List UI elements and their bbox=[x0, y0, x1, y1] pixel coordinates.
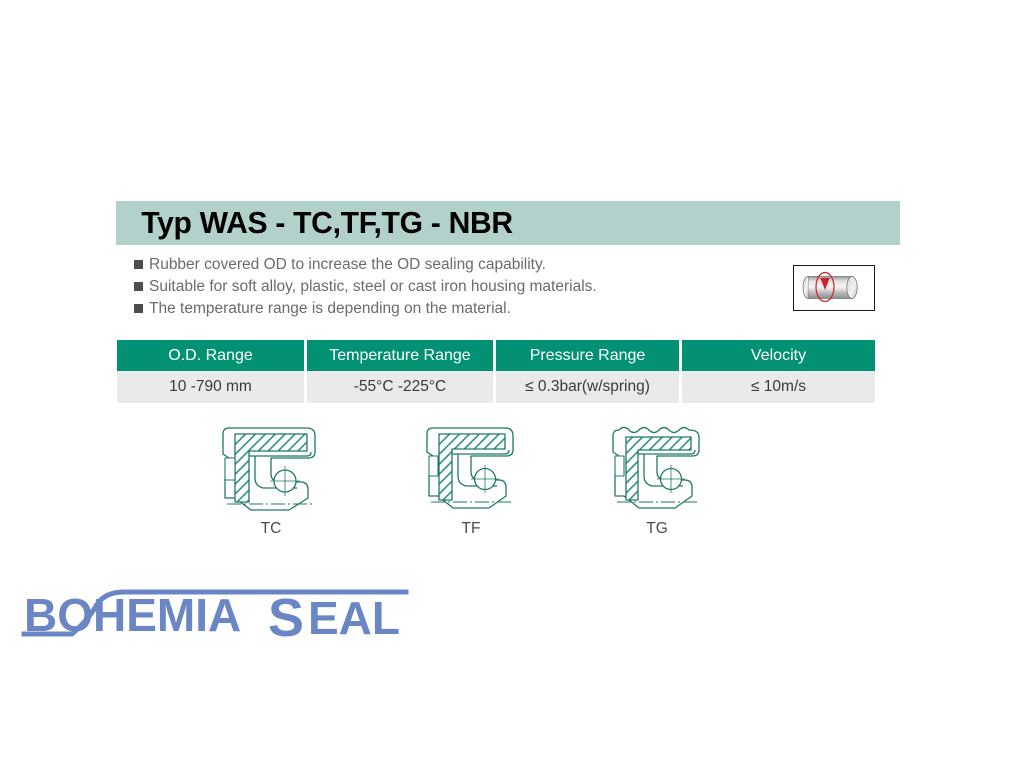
seal-label-tg: TG bbox=[582, 520, 732, 538]
brand-logo: BOHEMIA S EAL bbox=[16, 584, 416, 646]
seal-diagram-gallery: TC TF bbox=[0, 418, 1024, 553]
feature-item: Suitable for soft alloy, plastic, steel … bbox=[134, 277, 754, 296]
square-bullet-icon bbox=[134, 260, 143, 269]
seal-item-tf: TF bbox=[396, 418, 546, 538]
table-cell-pressure-range: ≤ 0.3bar(w/spring) bbox=[496, 371, 682, 403]
feature-item-label: Rubber covered OD to increase the OD sea… bbox=[149, 255, 546, 274]
table-row: 10 -790 mm -55°C -225°C ≤ 0.3bar(w/sprin… bbox=[117, 371, 875, 403]
square-bullet-icon bbox=[134, 282, 143, 291]
feature-item: Rubber covered OD to increase the OD sea… bbox=[134, 255, 754, 274]
square-bullet-icon bbox=[134, 304, 143, 313]
seal-drawing-tc bbox=[196, 418, 346, 518]
table-header-cell-od-range: O.D. Range bbox=[117, 340, 307, 371]
seal-item-tg: TG bbox=[582, 418, 732, 538]
seal-label-tc: TC bbox=[196, 520, 346, 538]
page-title: Typ WAS - TC,TF,TG - NBR bbox=[116, 205, 513, 241]
seal-drawing-tf bbox=[396, 418, 546, 518]
table-cell-velocity: ≤ 10m/s bbox=[682, 371, 875, 403]
logo-word-eal: EAL bbox=[308, 592, 400, 644]
feature-item-label: Suitable for soft alloy, plastic, steel … bbox=[149, 277, 597, 296]
rotating-shaft-icon bbox=[794, 266, 873, 309]
feature-item-label: The temperature range is depending on th… bbox=[149, 299, 511, 318]
seal-item-tc: TC bbox=[196, 418, 346, 538]
title-banner: Typ WAS - TC,TF,TG - NBR bbox=[116, 201, 900, 245]
rotating-shaft-icon-box bbox=[793, 265, 875, 311]
page-root: Typ WAS - TC,TF,TG - NBR Rubber covered … bbox=[0, 0, 1024, 768]
seal-diagram-tf bbox=[415, 418, 527, 518]
logo-word-s: S bbox=[268, 588, 304, 646]
seal-diagram-tg bbox=[601, 418, 713, 518]
bohemia-seal-logo: BOHEMIA S EAL bbox=[16, 584, 416, 646]
table-header-cell-temperature-range: Temperature Range bbox=[307, 340, 496, 371]
logo-word-bohemia: BOHEMIA bbox=[24, 589, 241, 641]
table-cell-temperature-range: -55°C -225°C bbox=[307, 371, 496, 403]
table-header-cell-velocity: Velocity bbox=[682, 340, 875, 371]
feature-item: The temperature range is depending on th… bbox=[134, 299, 754, 318]
seal-label-tf: TF bbox=[396, 520, 546, 538]
table-header-row: O.D. Range Temperature Range Pressure Ra… bbox=[117, 340, 875, 371]
feature-list: Rubber covered OD to increase the OD sea… bbox=[134, 255, 754, 321]
seal-diagram-tc bbox=[211, 418, 331, 518]
seal-drawing-tg bbox=[582, 418, 732, 518]
table-header-cell-pressure-range: Pressure Range bbox=[496, 340, 682, 371]
spec-table: O.D. Range Temperature Range Pressure Ra… bbox=[117, 340, 875, 403]
table-cell-od-range: 10 -790 mm bbox=[117, 371, 307, 403]
